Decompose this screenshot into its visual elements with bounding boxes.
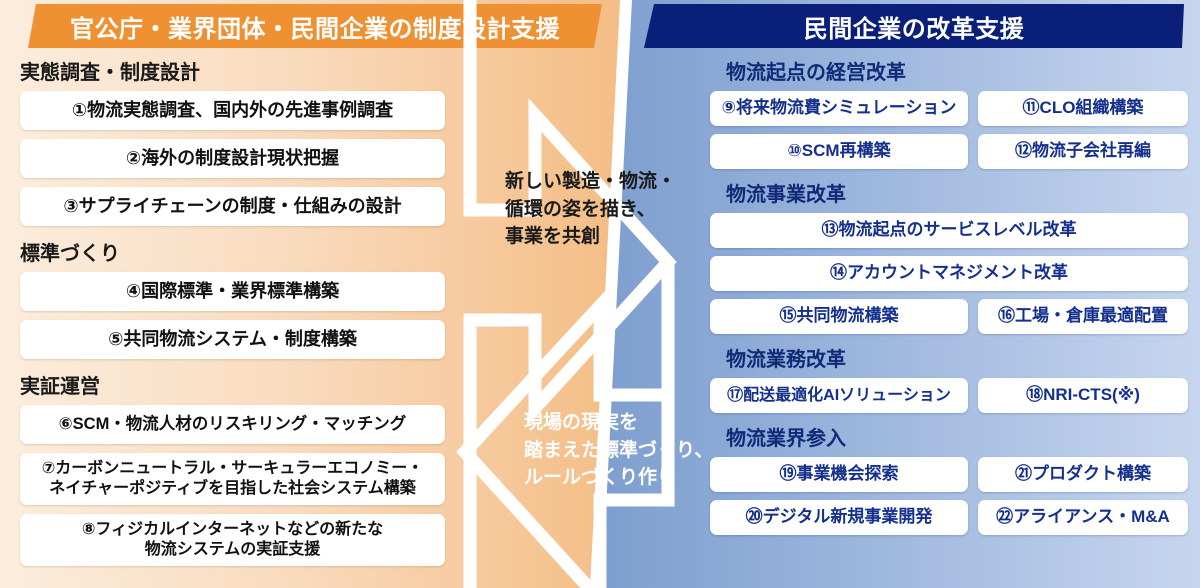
right-row-3-0: ⑲事業機会探索 ㉑プロダクト構築 [710,457,1188,492]
right-item-11[interactable]: ⑪CLO組織構築 [978,91,1188,126]
right-row-3-1: ⑳デジタル新規事業開発 ㉒アライアンス・M&A [710,500,1188,535]
left-group-title-2: 実証運営 [20,370,445,399]
right-header-title: 民間企業の改革支援 [804,9,1025,44]
arrow-bottom-label: 現場の現実を 踏まえた標準づくり、 ルールづくり作り [524,409,713,492]
logistics-support-diagram: 官公庁・業界団体・民間企業の制度設計支援 民間企業の改革支援 新しい製造・物流・… [0,0,1200,588]
left-item-8[interactable]: ⑧フィジカルインターネットなどの新たな 物流システムの実証支援 [20,514,445,566]
right-item-21[interactable]: ㉑プロダクト構築 [978,457,1188,492]
left-item-5[interactable]: ⑤共同物流システム・制度構築 [20,320,445,359]
right-row-0-0: ⑨将来物流費シミュレーション ⑪CLO組織構築 [710,91,1188,126]
right-group-title-3: 物流業界参入 [710,422,1188,451]
left-item-6[interactable]: ⑥SCM・物流人材のリスキリング・マッチング [20,405,445,444]
left-group-title-1: 標準づくり [20,237,445,266]
right-item-9[interactable]: ⑨将来物流費シミュレーション [710,91,968,126]
right-item-14[interactable]: ⑭アカウントマネジメント改革 [710,256,1188,291]
right-group-title-0: 物流起点の経営改革 [710,56,1188,85]
right-item-16[interactable]: ⑯工場・倉庫最適配置 [978,299,1188,334]
right-item-18[interactable]: ⑱NRI-CTS(※) [978,378,1188,413]
left-item-3[interactable]: ③サプライチェーンの制度・仕組みの設計 [20,187,445,226]
left-group-0: 実態調査・制度設計 ①物流実態調査、国内外の先進事例調査 ②海外の制度設計現状把… [20,56,445,226]
right-group-3: 物流業界参入 ⑲事業機会探索 ㉑プロダクト構築 ⑳デジタル新規事業開発 ㉒アライ… [710,422,1188,535]
left-panel-header: 官公庁・業界団体・民間企業の制度設計支援 [28,4,602,48]
left-group-1: 標準づくり ④国際標準・業界標準構築 ⑤共同物流システム・制度構築 [20,237,445,359]
left-item-2[interactable]: ②海外の制度設計現状把握 [20,139,445,178]
right-panel-header: 民間企業の改革支援 [644,4,1184,48]
right-item-17[interactable]: ⑰配送最適化AIソリューション [710,378,968,413]
right-group-title-1: 物流事業改革 [710,178,1188,207]
left-group-title-0: 実態調査・制度設計 [20,56,445,85]
right-column: 物流起点の経営改革 ⑨将来物流費シミュレーション ⑪CLO組織構築 ⑩SCM再構… [710,56,1188,544]
left-item-1[interactable]: ①物流実態調査、国内外の先進事例調査 [20,91,445,130]
right-group-2: 物流業務改革 ⑰配送最適化AIソリューション ⑱NRI-CTS(※) [710,343,1188,413]
right-row-1-1: ⑭アカウントマネジメント改革 [710,256,1188,291]
right-item-13[interactable]: ⑬物流起点のサービスレベル改革 [710,213,1188,248]
left-header-title: 官公庁・業界団体・民間企業の制度設計支援 [70,9,560,44]
left-item-4[interactable]: ④国際標準・業界標準構築 [20,272,445,311]
left-group-2: 実証運営 ⑥SCM・物流人材のリスキリング・マッチング ⑦カーボンニュートラル・… [20,370,445,566]
left-column: 実態調査・制度設計 ①物流実態調査、国内外の先進事例調査 ②海外の制度設計現状把… [20,56,445,577]
right-group-title-2: 物流業務改革 [710,343,1188,372]
right-item-10[interactable]: ⑩SCM再構築 [710,134,968,169]
right-group-0: 物流起点の経営改革 ⑨将来物流費シミュレーション ⑪CLO組織構築 ⑩SCM再構… [710,56,1188,169]
right-item-12[interactable]: ⑫物流子会社再編 [978,134,1188,169]
right-row-2-0: ⑰配送最適化AIソリューション ⑱NRI-CTS(※) [710,378,1188,413]
right-item-20[interactable]: ⑳デジタル新規事業開発 [710,500,968,535]
right-item-15[interactable]: ⑮共同物流構築 [710,299,968,334]
arrow-top-label: 新しい製造・物流・ 循環の姿を描き、 事業を共創 [505,168,676,251]
right-item-22[interactable]: ㉒アライアンス・M&A [978,500,1188,535]
right-group-1: 物流事業改革 ⑬物流起点のサービスレベル改革 ⑭アカウントマネジメント改革 ⑮共… [710,178,1188,334]
left-item-7[interactable]: ⑦カーボンニュートラル・サーキュラーエコノミー・ ネイチャーポジティブを目指した… [20,453,445,505]
right-item-19[interactable]: ⑲事業機会探索 [710,457,968,492]
right-row-0-1: ⑩SCM再構築 ⑫物流子会社再編 [710,134,1188,169]
right-row-1-0: ⑬物流起点のサービスレベル改革 [710,213,1188,248]
right-row-1-2: ⑮共同物流構築 ⑯工場・倉庫最適配置 [710,299,1188,334]
